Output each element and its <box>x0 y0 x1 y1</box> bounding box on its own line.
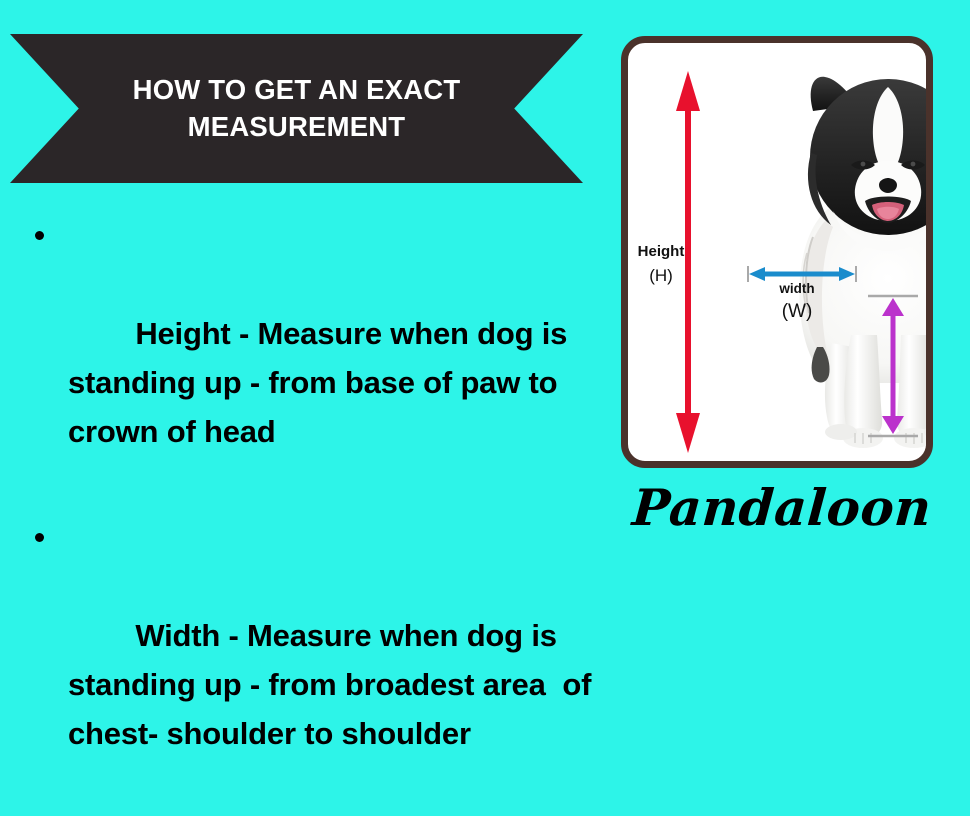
leg-height-arrow-icon <box>866 292 920 440</box>
infographic-root: HOW TO GET AN EXACT MEASUREMENT Height -… <box>0 0 970 600</box>
width-symbol: (W) <box>740 301 854 323</box>
right-media-column: Height (H) width (W) <box>610 0 970 600</box>
measurement-diagram-card: Height (H) width (W) <box>621 36 933 468</box>
width-label: width <box>740 281 854 296</box>
height-label: Height <box>630 240 692 263</box>
height-symbol: (H) <box>630 263 692 289</box>
page-title: HOW TO GET AN EXACT MEASUREMENT <box>10 34 583 183</box>
bullet-dot-icon <box>35 533 44 542</box>
instruction-list: Height - Measure when dog is standing up… <box>18 212 598 816</box>
list-item: Width - Measure when dog is standing up … <box>18 514 598 808</box>
brand-logo-text: Pandaloon <box>608 478 956 537</box>
left-content-column: HOW TO GET AN EXACT MEASUREMENT Height -… <box>0 0 610 600</box>
card-inner: Height (H) width (W) <box>628 43 926 461</box>
header-ribbon-banner: HOW TO GET AN EXACT MEASUREMENT <box>10 34 583 183</box>
bullet-dot-icon <box>35 231 44 240</box>
list-item: Height - Measure when dog is standing up… <box>18 212 598 506</box>
list-item-text: Height - Measure when dog is standing up… <box>68 316 576 449</box>
height-label-group: Height (H) <box>630 240 692 290</box>
list-item-text: Width - Measure when dog is standing up … <box>68 618 600 751</box>
